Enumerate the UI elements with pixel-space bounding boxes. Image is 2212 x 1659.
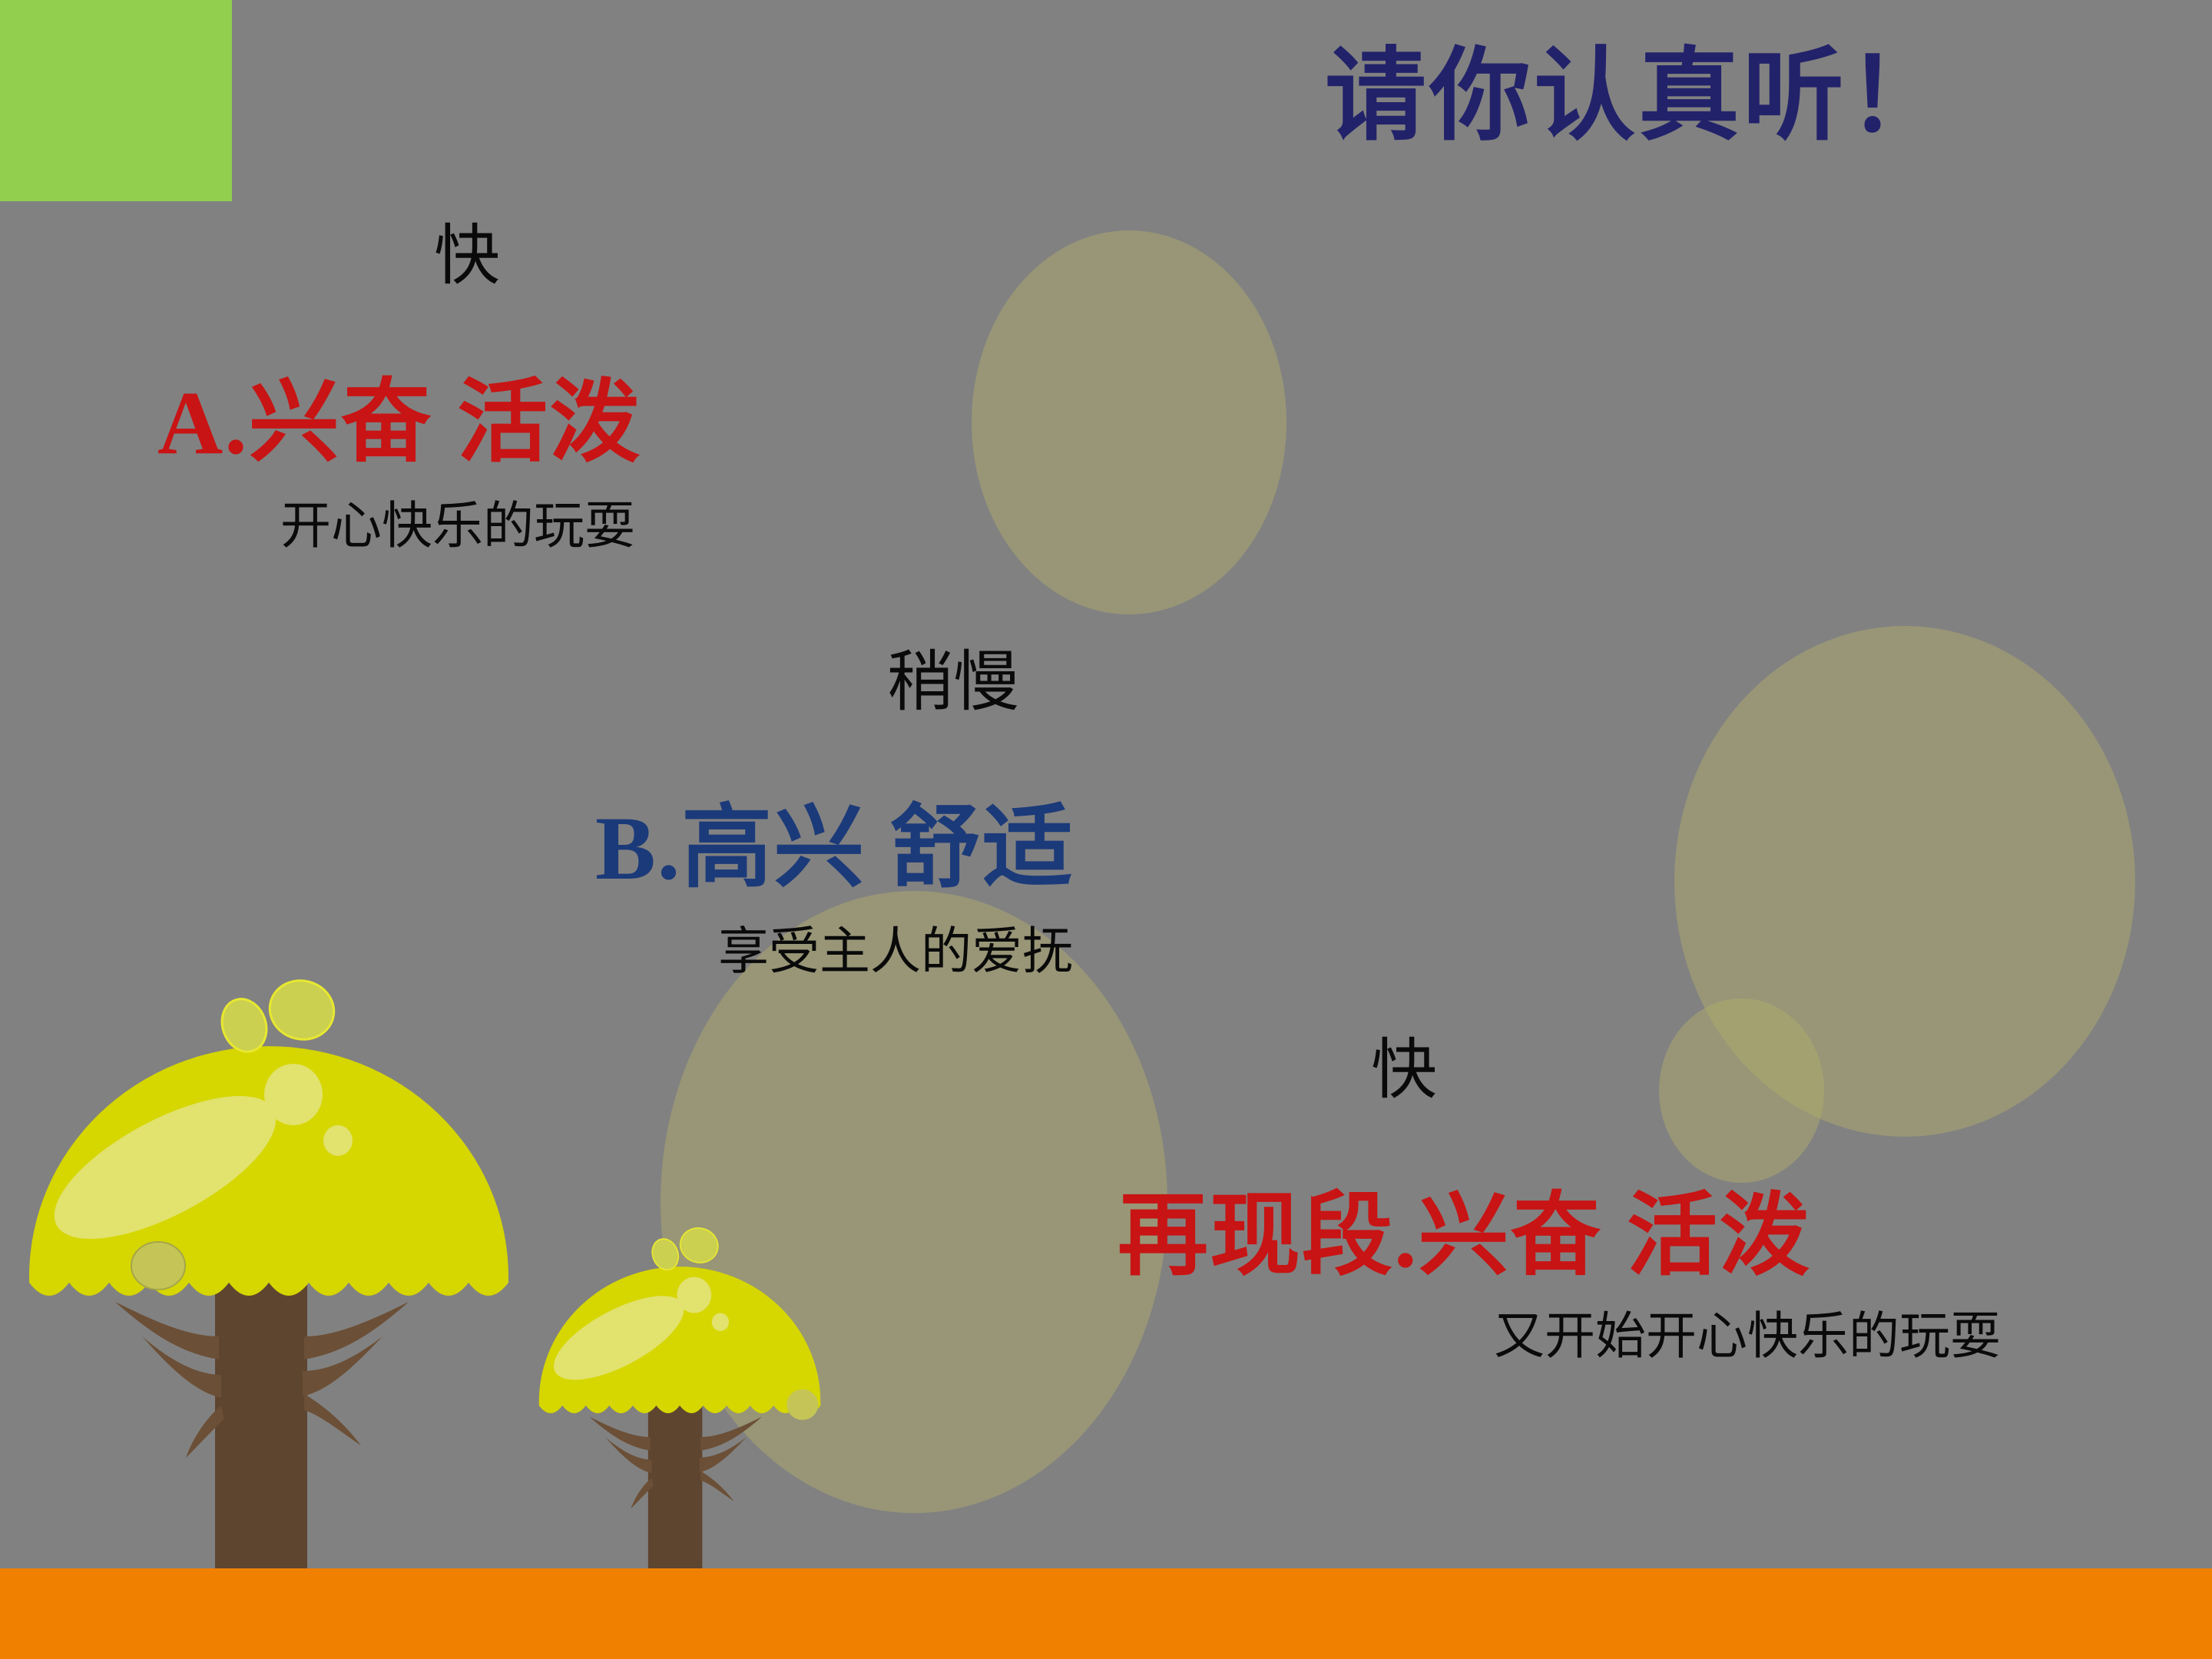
page-title: 请你认真听！ bbox=[1325, 46, 1952, 147]
ellipse-decoration-right-large bbox=[1674, 626, 2135, 1137]
section-label-b: B.高兴 舒适 bbox=[595, 803, 1075, 894]
slide-canvas: 请你认真听！ 快 A.兴奋 活泼 开心快乐的玩耍 稍慢 B.高兴 舒适 享受主人… bbox=[0, 0, 2212, 1659]
ellipse-decoration-right-small bbox=[1659, 998, 1824, 1183]
tempo-label-c: 快 bbox=[1371, 1037, 1437, 1103]
tree-icon-large bbox=[23, 975, 515, 1590]
tempo-label-b: 稍慢 bbox=[887, 649, 1019, 715]
ellipse-decoration-top bbox=[972, 230, 1286, 614]
section-description-a: 开心快乐的玩耍 bbox=[280, 502, 635, 552]
tree-icon-small bbox=[518, 1225, 841, 1586]
section-description-b: 享受主人的爱抚 bbox=[718, 927, 1073, 978]
section-description-c: 又开始开心快乐的玩耍 bbox=[1494, 1312, 2001, 1363]
tempo-label-a: 快 bbox=[434, 223, 500, 289]
section-label-c: 再现段.兴奋 活泼 bbox=[1118, 1191, 1811, 1282]
green-corner-block bbox=[0, 0, 232, 201]
section-label-a: A.兴奋 活泼 bbox=[157, 378, 641, 469]
orange-footer-bar bbox=[0, 1568, 2212, 1659]
